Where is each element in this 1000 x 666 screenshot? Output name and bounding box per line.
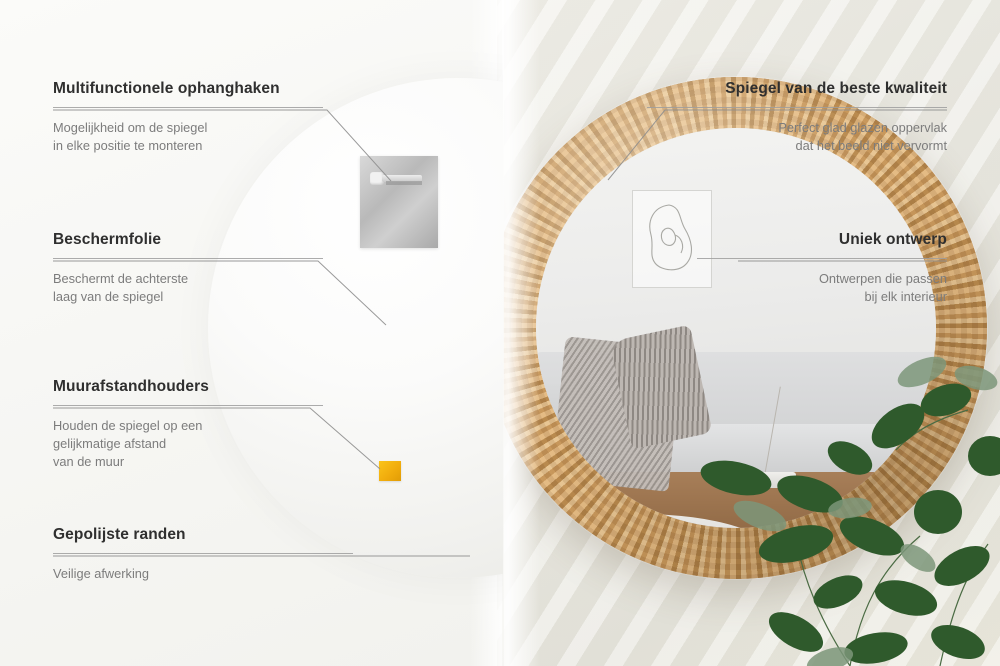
- callout-description: Beschermt de achterste laag van de spieg…: [53, 270, 323, 306]
- callout-title: Spiegel van de beste kwaliteit: [647, 80, 947, 98]
- callout-kwaliteit: Spiegel van de beste kwaliteit Perfect g…: [647, 80, 947, 155]
- callout-description: Ontwerpen die passen bij elk interieur: [697, 270, 947, 306]
- callout-title: Muurafstandhouders: [53, 378, 323, 396]
- callout-title: Uniek ontwerp: [697, 231, 947, 249]
- callout-description: Mogelijkheid om de spiegel in elke posit…: [53, 119, 323, 155]
- callout-ontwerp: Uniek ontwerp Ontwerpen die passen bij e…: [697, 231, 947, 306]
- callout-rule: [697, 258, 947, 259]
- callout-ophanghaken: Multifunctionele ophanghaken Mogelijkhei…: [53, 80, 323, 155]
- callout-rule: [53, 405, 323, 406]
- callout-muurafstandhouders: Muurafstandhouders Houden de spiegel op …: [53, 378, 323, 471]
- foliage-decoration: [700, 330, 1000, 666]
- callout-rule: [53, 553, 353, 554]
- callout-gepolijste-randen: Gepolijste randen Veilige afwerking: [53, 526, 353, 583]
- callout-title: Multifunctionele ophanghaken: [53, 80, 323, 98]
- callout-description: Houden de spiegel op een gelijkmatige af…: [53, 417, 323, 471]
- hanging-hook-plate: [360, 156, 438, 248]
- callout-rule: [53, 107, 323, 108]
- callout-rule: [53, 258, 323, 259]
- callout-description: Veilige afwerking: [53, 565, 353, 583]
- infographic-canvas: Multifunctionele ophanghaken Mogelijkhei…: [0, 0, 1000, 666]
- hook-bar-shadow: [386, 181, 422, 185]
- callout-description: Perfect glad glazen oppervlak dat het be…: [647, 119, 947, 155]
- callout-rule: [647, 107, 947, 108]
- callout-beschermfolie: Beschermfolie Beschermt de achterste laa…: [53, 231, 323, 306]
- hook-keyhole-slot: [370, 172, 422, 185]
- wall-spacer-yellow: [379, 461, 401, 481]
- callout-title: Gepolijste randen: [53, 526, 353, 544]
- callout-title: Beschermfolie: [53, 231, 323, 249]
